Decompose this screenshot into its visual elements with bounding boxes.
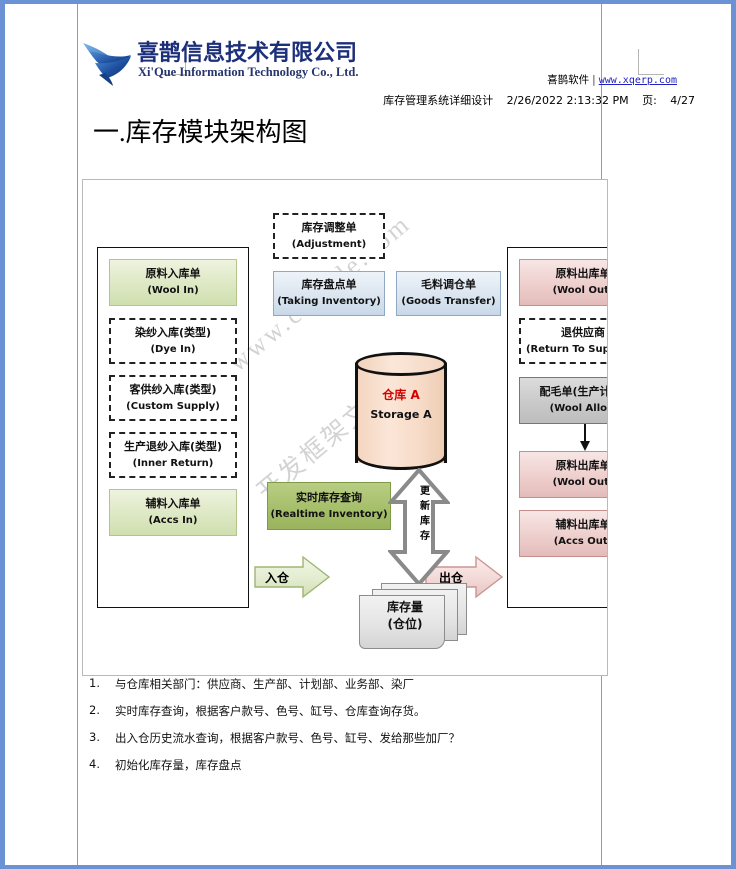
node-title-cn: 原料出库单 <box>556 267 609 281</box>
arrow-update-label: 更新库存 <box>419 484 431 544</box>
node-accs-in[interactable]: 辅料入库单 (Accs In) <box>109 489 237 536</box>
company-url-link[interactable]: www.xqerp.com <box>599 75 677 86</box>
storage-name-en: Storage A <box>355 408 447 421</box>
inventory-doc-label: 库存量 (仓位) <box>359 599 451 634</box>
node-title-cn: 毛料调仓单 <box>421 278 476 292</box>
node-title-en: (Accs In) <box>148 515 197 528</box>
node-title-en: (Wool Allot) <box>550 403 608 416</box>
list-item: 2. 实时库存查询，根据客户款号、色号、缸号、仓库查询存货。 <box>89 703 569 719</box>
node-accs-out[interactable]: 辅料出库单 (Accs Out) <box>519 510 608 557</box>
cylinder-top <box>355 352 447 376</box>
node-dye-in[interactable]: 染纱入库(类型) (Dye In) <box>109 318 237 364</box>
inventory-doc-stack[interactable]: 库存量 (仓位) <box>359 583 467 649</box>
node-wool-out-1[interactable]: 原料出库单 (Wool Out) <box>519 259 608 306</box>
page-header: 喜鹊信息技术有限公司 Xi'Que Information Technology… <box>5 4 731 112</box>
document-page: 喜鹊信息技术有限公司 Xi'Que Information Technology… <box>5 4 731 865</box>
brand-separator: | <box>589 74 599 86</box>
architecture-diagram: www.cncode.com 开发框架文库 原料入库单 (Wool In) 染纱… <box>82 179 608 676</box>
node-title-cn: 生产退纱入库(类型) <box>124 440 222 454</box>
node-title-en: (Accs Out) <box>554 536 608 549</box>
node-title-cn: 实时库存查询 <box>296 491 362 505</box>
node-title-cn: 原料入库单 <box>146 267 201 281</box>
node-return-to-supplier[interactable]: 退供应商 (Return To Supplier) <box>519 318 608 364</box>
list-item: 4. 初始化库存量，库存盘点 <box>89 757 569 773</box>
node-title-en: (Realtime Inventory) <box>270 509 387 522</box>
inventory-doc-en: (仓位) <box>359 616 451 633</box>
node-realtime-inventory[interactable]: 实时库存查询 (Realtime Inventory) <box>267 482 391 530</box>
note-text: 出入仓历史流水查询，根据客户款号、色号、缸号、发给那些加厂？ <box>115 730 569 746</box>
header-brand-line: 喜鹊软件|www.xqerp.com <box>5 72 677 87</box>
node-title-cn: 库存盘点单 <box>302 278 357 292</box>
connector-allot-to-out <box>578 424 592 452</box>
node-title-cn: 库存调整单 <box>302 221 357 235</box>
arrow-in-label: 入仓 <box>265 569 289 586</box>
node-wool-in[interactable]: 原料入库单 (Wool In) <box>109 259 237 306</box>
inventory-doc-cn: 库存量 <box>359 599 451 616</box>
node-wool-out-2[interactable]: 原料出库单 (Wool Out) <box>519 451 608 498</box>
node-title-cn: 辅料入库单 <box>146 497 201 511</box>
note-number: 3. <box>89 730 115 746</box>
note-number: 4. <box>89 757 115 773</box>
header-doc-name: 库存管理系统详细设计 <box>383 94 493 107</box>
node-title-cn: 原料出库单 <box>556 459 609 473</box>
node-title-cn: 辅料出库单 <box>556 518 609 532</box>
node-title-en: (Return To Supplier) <box>526 344 608 357</box>
storage-name-cn: 仓库 A <box>355 386 447 403</box>
node-title-en: (Goods Transfer) <box>401 296 495 309</box>
node-title-en: (Inner Return) <box>133 458 214 471</box>
node-title-cn: 配毛单(生产计划) <box>539 385 608 399</box>
header-page-label: 页: <box>642 94 657 107</box>
header-page-number: 4/27 <box>670 94 695 107</box>
node-title-en: (Wool Out) <box>553 477 608 490</box>
cylinder-bottom <box>355 440 447 470</box>
node-custom-supply[interactable]: 客供纱入库(类型) (Custom Supply) <box>109 375 237 421</box>
node-wool-allot[interactable]: 配毛单(生产计划) (Wool Allot) <box>519 377 608 424</box>
node-title-en: (Custom Supply) <box>126 401 220 414</box>
header-doc-line: 库存管理系统详细设计 2/26/2022 2:13:32 PM 页: 4/27 <box>5 92 695 108</box>
list-item: 3. 出入仓历史流水查询，根据客户款号、色号、缸号、发给那些加厂？ <box>89 730 569 746</box>
node-title-cn: 退供应商 <box>561 326 605 340</box>
header-timestamp: 2/26/2022 2:13:32 PM <box>507 94 629 107</box>
node-title-cn: 染纱入库(类型) <box>135 326 211 340</box>
node-inner-return[interactable]: 生产退纱入库(类型) (Inner Return) <box>109 432 237 478</box>
node-title-en: (Taking Inventory) <box>277 296 381 309</box>
update-label-text: 更新库存 <box>419 484 431 544</box>
company-name-cn: 喜鹊信息技术有限公司 <box>137 35 357 67</box>
note-number: 1. <box>89 676 115 692</box>
node-goods-transfer[interactable]: 毛料调仓单 (Goods Transfer) <box>396 271 501 316</box>
node-title-en: (Adjustment) <box>292 239 366 252</box>
notes-list: 1. 与仓库相关部门：供应商、生产部、计划部、业务部、染厂 2. 实时库存查询，… <box>89 676 569 784</box>
page-title: 一.库存模块架构图 <box>93 112 308 149</box>
node-title-cn: 客供纱入库(类型) <box>129 383 216 397</box>
node-title-en: (Wool In) <box>147 285 198 298</box>
node-taking-inventory[interactable]: 库存盘点单 (Taking Inventory) <box>273 271 385 316</box>
document-window: 喜鹊信息技术有限公司 Xi'Que Information Technology… <box>0 0 736 869</box>
node-adjustment[interactable]: 库存调整单 (Adjustment) <box>273 213 385 259</box>
node-title-en: (Wool Out) <box>553 285 608 298</box>
text-frame-left-guide <box>77 4 78 865</box>
storage-cylinder: 仓库 A Storage A <box>355 352 447 474</box>
node-title-en: (Dye In) <box>150 344 195 357</box>
note-text: 与仓库相关部门：供应商、生产部、计划部、业务部、染厂 <box>115 676 569 692</box>
list-item: 1. 与仓库相关部门：供应商、生产部、计划部、业务部、染厂 <box>89 676 569 692</box>
note-number: 2. <box>89 703 115 719</box>
note-text: 初始化库存量，库存盘点 <box>115 757 569 773</box>
note-text: 实时库存查询，根据客户款号、色号、缸号、仓库查询存货。 <box>115 703 569 719</box>
brand-label: 喜鹊软件 <box>547 74 589 86</box>
cylinder-label: 仓库 A Storage A <box>355 386 447 421</box>
